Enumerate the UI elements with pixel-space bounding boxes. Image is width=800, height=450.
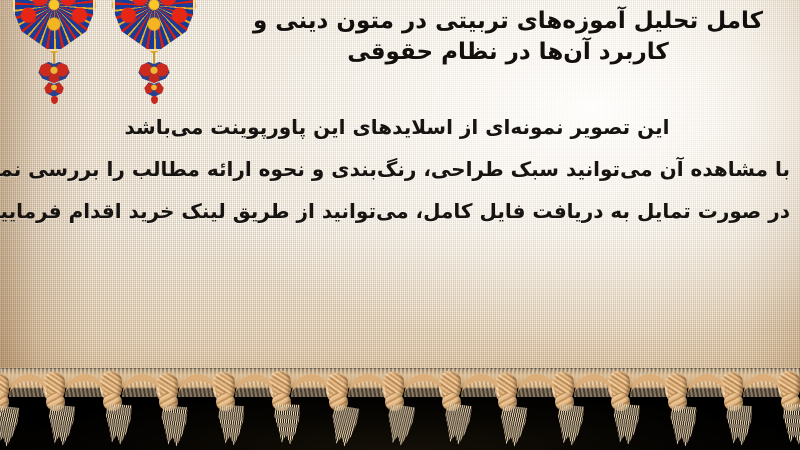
fringe-tuft-icon [498, 405, 528, 449]
fringe-tuft-icon [103, 403, 131, 446]
fringe-tuft-icon [0, 405, 19, 449]
slide-body: این تصویر نمونه‌ای از اسلایدهای این پاور… [4, 112, 790, 226]
fringe-tuft-icon [328, 404, 360, 449]
body-line-2: با مشاهده آن می‌توانید سبک طراحی، رنگ‌بن… [4, 154, 790, 184]
body-line-1: این تصویر نمونه‌ای از اسلایدهای این پاور… [4, 112, 790, 142]
medallion-stem-icon [153, 52, 155, 64]
carpet-fringe-row [0, 372, 800, 450]
fringe-tuft-icon [47, 404, 76, 448]
medallion-body-icon [110, 0, 198, 54]
medallion-body-icon [10, 0, 98, 54]
persian-carpet-medallion-icon [110, 0, 198, 78]
fringe-tuft-icon [217, 405, 244, 447]
persian-carpet-medallion-icon [10, 0, 98, 78]
carpet-black-band [0, 368, 800, 450]
carpet-fringe-tassel [0, 372, 29, 450]
fringe-tuft-icon [555, 404, 584, 448]
fringe-tuft-icon [612, 403, 640, 446]
body-line-3: در صورت تمایل به دریافت فایل کامل، می‌تو… [4, 196, 790, 226]
slide-canvas: کامل تحلیل آموزه‌های تربیتی در متون دینی… [0, 0, 800, 450]
fringe-tuft-icon [274, 404, 300, 446]
fringe-tuft-icon [160, 406, 187, 449]
slide-title: کامل تحلیل آموزه‌های تربیتی در متون دینی… [228, 6, 788, 68]
medallion-stem-icon [53, 52, 55, 64]
fringe-tuft-icon [385, 404, 416, 449]
fringe-tuft-icon [726, 405, 753, 447]
fringe-tuft-icon [669, 406, 696, 449]
fringe-tuft-icon [783, 404, 800, 446]
